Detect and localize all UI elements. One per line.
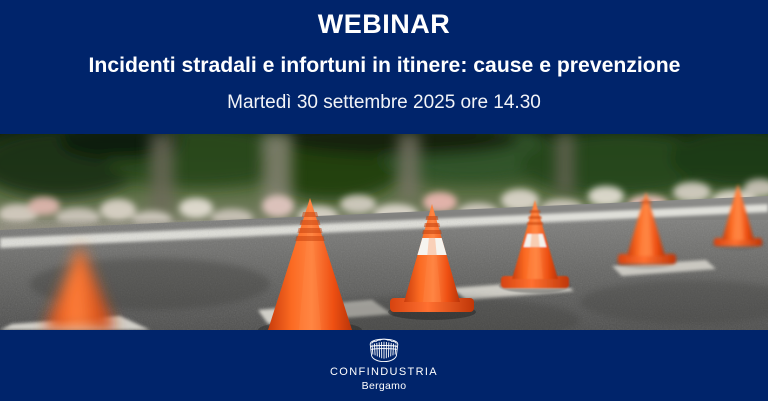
page-title: Incidenti stradali e infortuni in itiner… bbox=[88, 55, 680, 77]
confindustria-crown-icon bbox=[367, 338, 401, 363]
road-cones-illustration bbox=[0, 134, 768, 330]
webinar-poster: WEBINAR Incidenti stradali e infortuni i… bbox=[0, 0, 768, 401]
confindustria-bergamo-logo: CONFINDUSTRIA Bergamo bbox=[330, 338, 438, 393]
logo-city-name: Bergamo bbox=[362, 380, 407, 393]
event-datetime: Martedì 30 settembre 2025 ore 14.30 bbox=[227, 93, 541, 112]
hero-photo bbox=[0, 134, 768, 330]
logo-org-name: CONFINDUSTRIA bbox=[330, 366, 438, 379]
poster-footer: CONFINDUSTRIA Bergamo bbox=[0, 330, 768, 401]
poster-header: WEBINAR Incidenti stradali e infortuni i… bbox=[0, 0, 768, 134]
event-type-kicker: WEBINAR bbox=[318, 11, 451, 38]
